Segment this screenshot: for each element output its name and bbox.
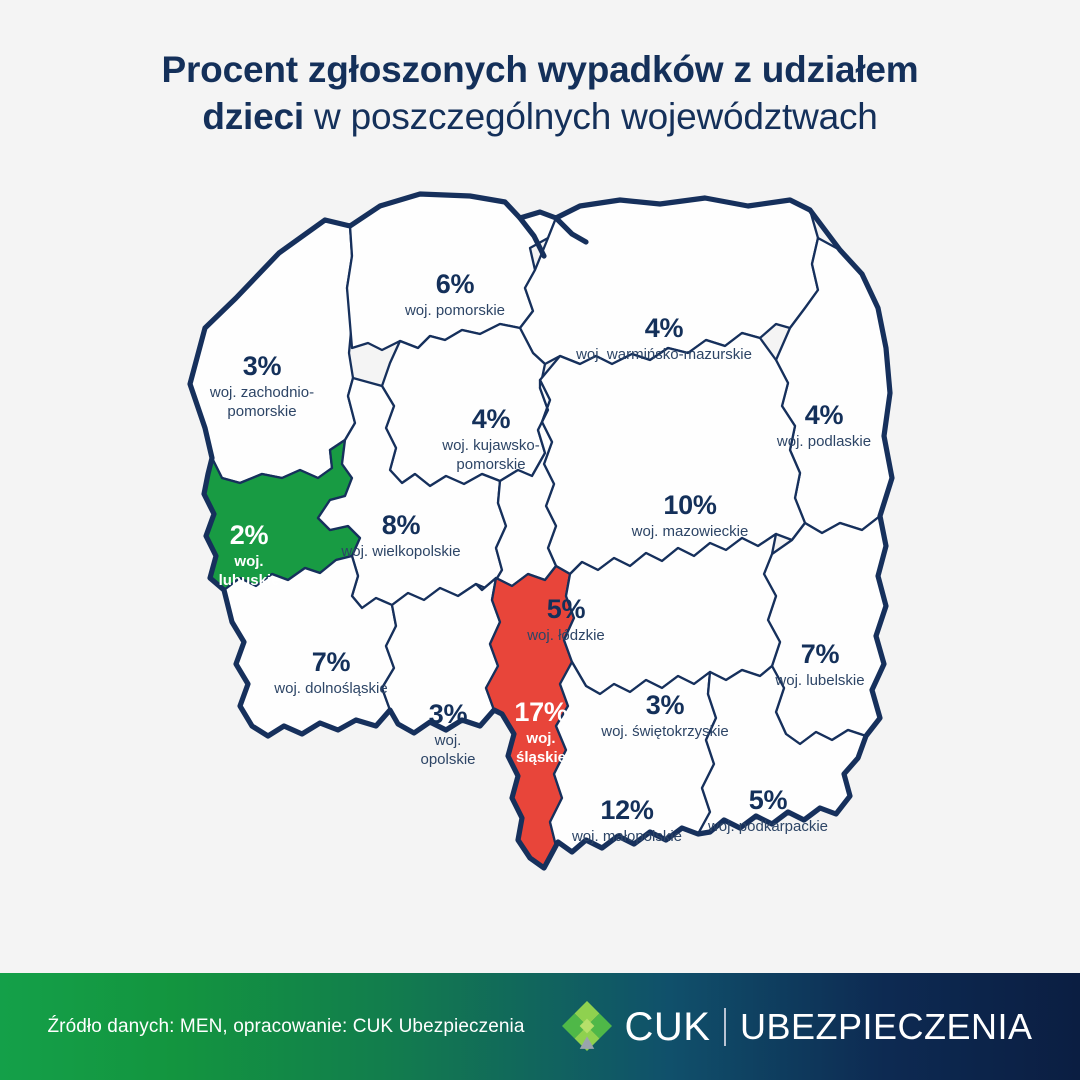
region-kujawsko-pomorskie[interactable] (382, 324, 548, 486)
title-line-2: dzieci w poszczególnych województwach (0, 93, 1080, 140)
title-line-1: Procent zgłoszonych wypadków z udziałem (0, 46, 1080, 93)
cuk-logo-text: CUK UBEZPIECZENIA (625, 1007, 1033, 1047)
logo-secondary-text: UBEZPIECZENIA (740, 1009, 1033, 1045)
logo-divider (724, 1008, 726, 1046)
region-warminsko-mazurskie[interactable] (520, 198, 818, 364)
cuk-logo[interactable]: CUK UBEZPIECZENIA (561, 1001, 1033, 1053)
title-line-2-regular: w poszczególnych województwach (304, 96, 878, 137)
logo-primary-text: CUK (625, 1007, 711, 1047)
poland-map: 3% woj. zachodnio- pomorskie 6% woj. pom… (0, 178, 1080, 968)
source-note: Źródło danych: MEN, opracowanie: CUK Ube… (47, 1016, 524, 1038)
infographic-page: Procent zgłoszonych wypadków z udziałem … (0, 0, 1080, 1080)
page-title: Procent zgłoszonych wypadków z udziałem … (0, 46, 1080, 141)
region-opolskie[interactable] (382, 578, 500, 733)
region-mazowieckie[interactable] (540, 333, 805, 574)
poland-map-svg (0, 178, 1080, 968)
title-line-1-text: Procent zgłoszonych wypadków z udziałem (161, 49, 918, 90)
title-line-2-bold: dzieci (202, 96, 304, 137)
region-lubelskie[interactable] (764, 516, 886, 744)
footer-bar: Źródło danych: MEN, opracowanie: CUK Ube… (0, 973, 1080, 1080)
region-malopolskie[interactable] (544, 662, 716, 868)
cuk-diamond-icon (561, 1001, 613, 1053)
